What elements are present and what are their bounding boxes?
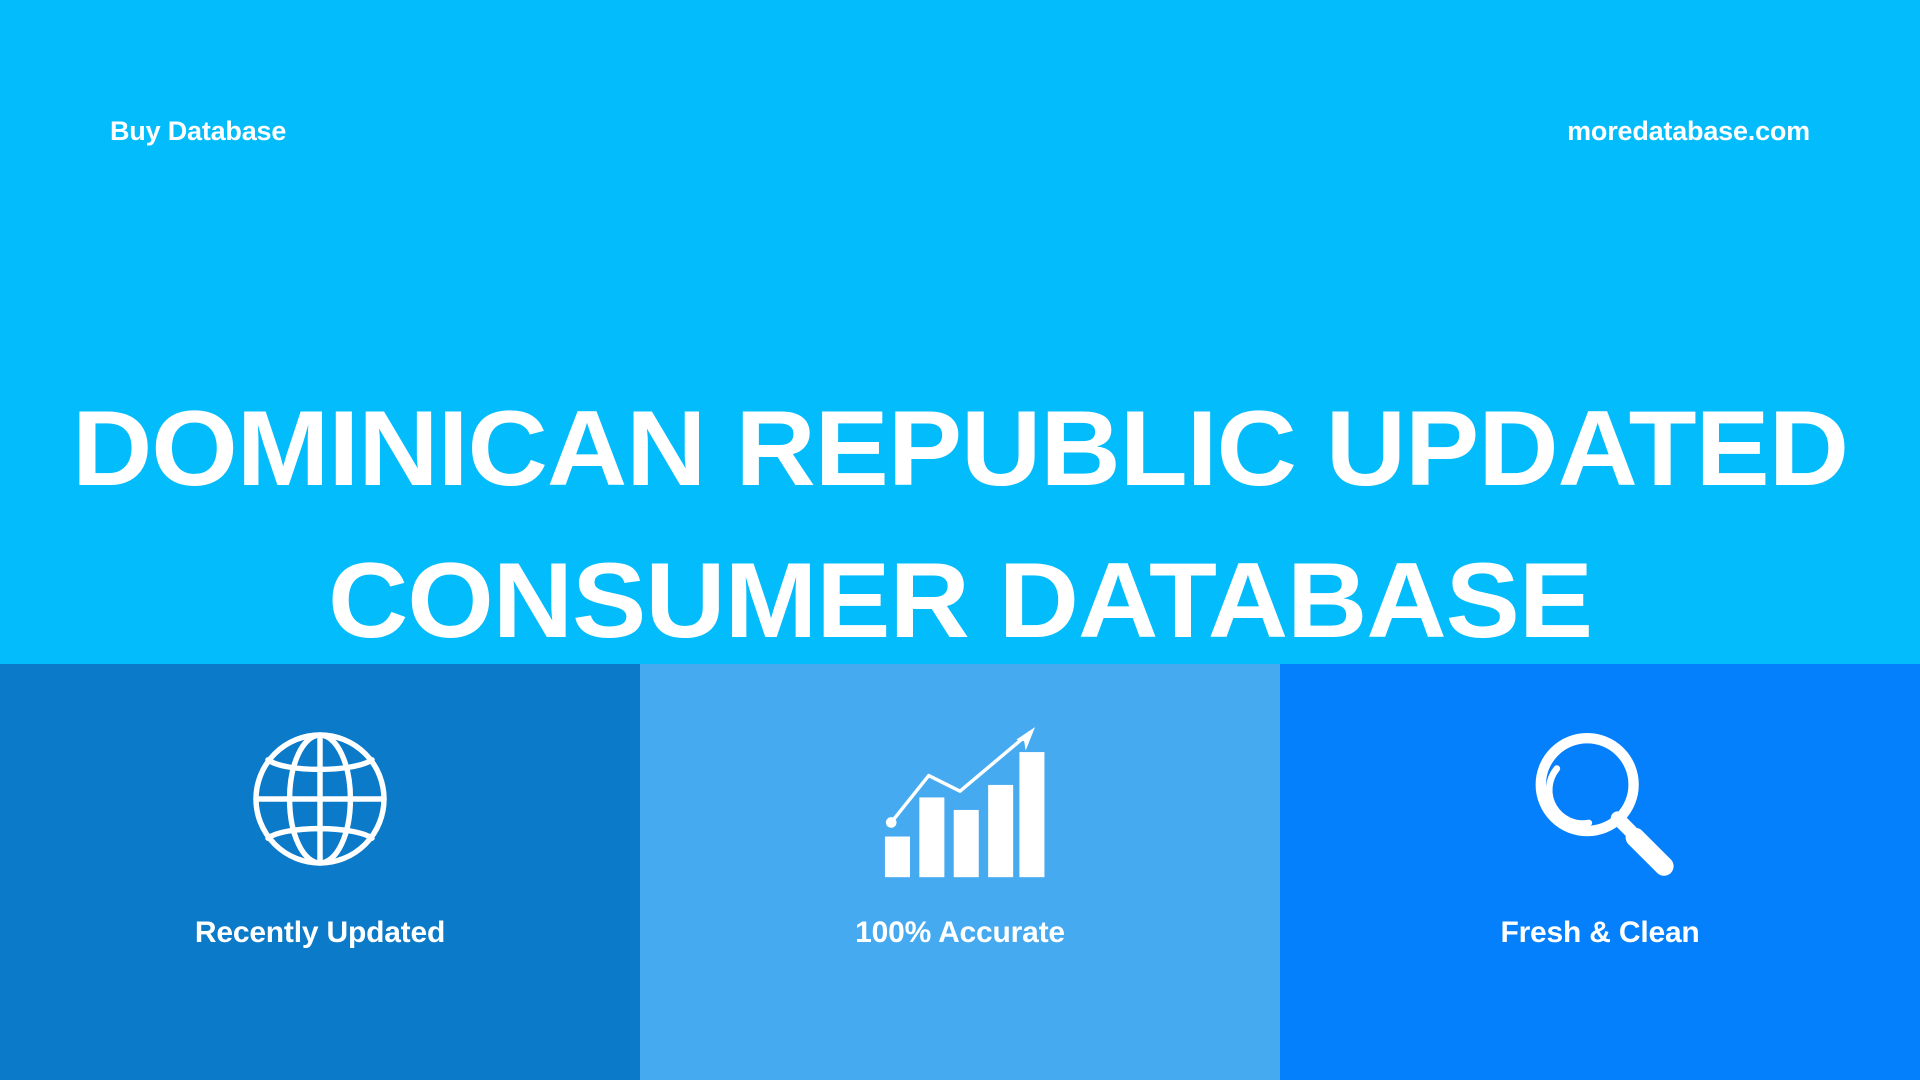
bar-chart-growth-icon [874, 714, 1046, 884]
feature-panel-recently-updated[interactable]: Recently Updated [0, 664, 640, 1080]
feature-panel-accurate[interactable]: 100% Accurate [640, 664, 1280, 1080]
promo-banner: Buy Database moredatabase.com DOMINICAN … [0, 0, 1920, 1080]
page-title-line-1: DOMINICAN REPUBLIC UPDATED [0, 372, 1920, 524]
page-title: DOMINICAN REPUBLIC UPDATED CONSUMER DATA… [0, 372, 1920, 676]
brand-name[interactable]: Buy Database [110, 116, 286, 147]
website-url[interactable]: moredatabase.com [1567, 116, 1810, 147]
feature-label-fresh-clean: Fresh & Clean [1500, 916, 1699, 950]
feature-label-accurate: 100% Accurate [855, 916, 1065, 950]
page-title-line-2: CONSUMER DATABASE [0, 524, 1920, 676]
feature-label-recently-updated: Recently Updated [195, 916, 445, 950]
feature-panel-fresh-clean[interactable]: Fresh & Clean [1280, 664, 1920, 1080]
feature-panels: Recently Updated [0, 664, 1920, 1080]
brand-bar: Buy Database moredatabase.com [0, 108, 1920, 154]
magnifying-glass-icon [1520, 714, 1680, 884]
globe-icon [240, 714, 400, 884]
hero-section: Buy Database moredatabase.com DOMINICAN … [0, 0, 1920, 664]
